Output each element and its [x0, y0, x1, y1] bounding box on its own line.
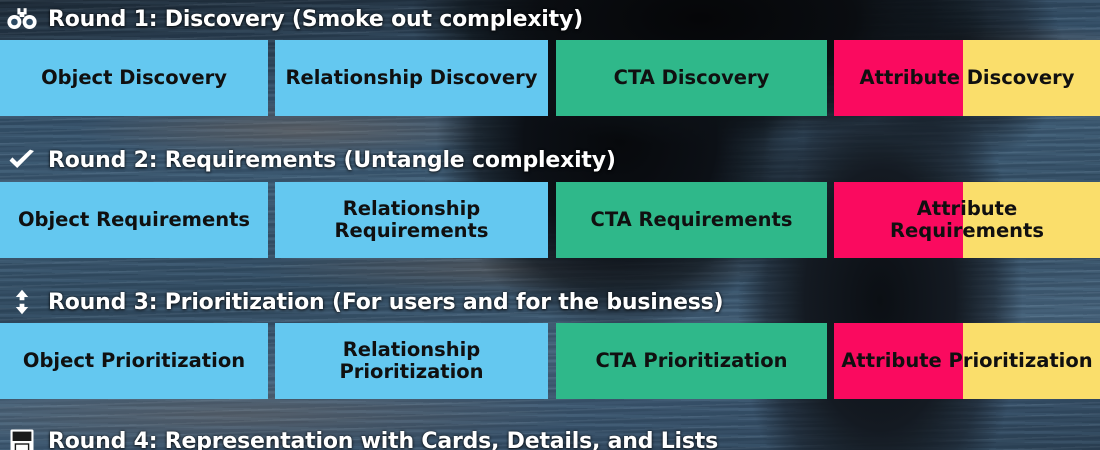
- block-object-prioritization[interactable]: Object Prioritization: [0, 323, 268, 399]
- round-3-blocks: Object Prioritization Relationship Prior…: [0, 323, 1100, 399]
- round-1-header: Round 1: Discovery (Smoke out complexity…: [0, 2, 1100, 36]
- block-attribute-prioritization-pink-panel[interactable]: [834, 323, 963, 399]
- block-cta-discovery[interactable]: CTA Discovery: [556, 40, 827, 116]
- round-4-header: Round 4: Representation with Cards, Deta…: [0, 424, 1100, 450]
- binoculars-icon: [6, 4, 38, 34]
- round-1-title: Round 1: Discovery (Smoke out complexity…: [48, 7, 583, 32]
- round-2-blocks: Object Requirements Relationship Require…: [0, 182, 1100, 258]
- block-cta-prioritization[interactable]: CTA Prioritization: [556, 323, 827, 399]
- block-attribute-discovery-pink-panel[interactable]: [834, 40, 963, 116]
- round-1-blocks: Object Discovery Relationship Discovery …: [0, 40, 1100, 116]
- block-relationship-prioritization[interactable]: Relationship Prioritization: [275, 323, 548, 399]
- round-3-title: Round 3: Prioritization (For users and f…: [48, 290, 723, 315]
- up-down-arrow-icon: [6, 287, 38, 317]
- round-2-header: Round 2: Requirements (Untangle complexi…: [0, 143, 1100, 177]
- round-4-title: Round 4: Representation with Cards, Deta…: [48, 429, 718, 450]
- block-relationship-requirements[interactable]: Relationship Requirements: [275, 182, 548, 258]
- round-3-header: Round 3: Prioritization (For users and f…: [0, 285, 1100, 319]
- block-attribute-requirements-yellow-panel[interactable]: [963, 182, 1100, 258]
- block-attribute-requirements-pink-panel[interactable]: [834, 182, 963, 258]
- block-attribute-discovery-yellow-panel[interactable]: [963, 40, 1100, 116]
- check-icon: [6, 145, 38, 175]
- round-2-title: Round 2: Requirements (Untangle complexi…: [48, 148, 616, 173]
- block-cta-requirements[interactable]: CTA Requirements: [556, 182, 827, 258]
- block-attribute-prioritization-yellow-panel[interactable]: [963, 323, 1100, 399]
- block-object-requirements[interactable]: Object Requirements: [0, 182, 268, 258]
- save-floppy-icon: [6, 426, 38, 450]
- block-relationship-discovery[interactable]: Relationship Discovery: [275, 40, 548, 116]
- block-object-discovery[interactable]: Object Discovery: [0, 40, 268, 116]
- rounds-board: Round 1: Discovery (Smoke out complexity…: [0, 0, 1100, 450]
